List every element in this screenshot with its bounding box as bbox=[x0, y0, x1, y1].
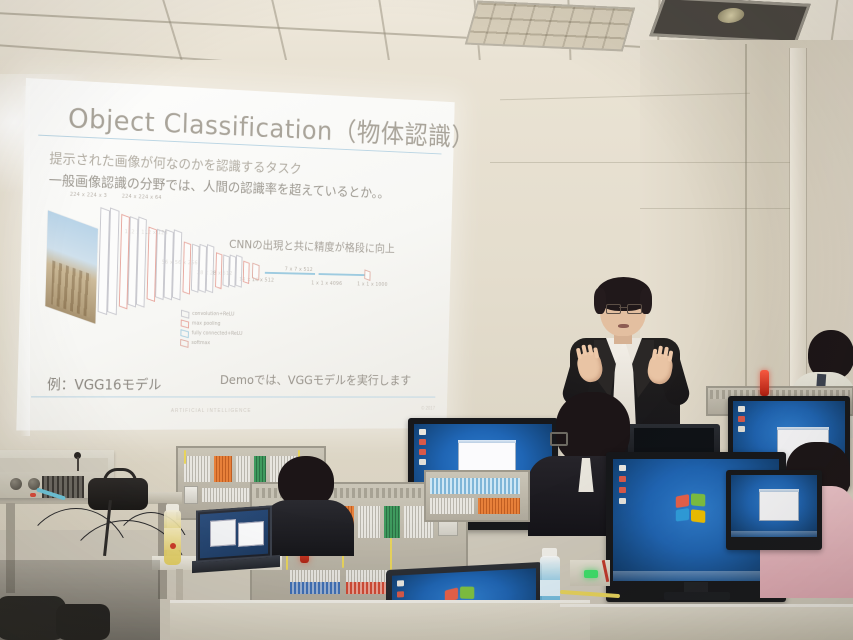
vgg-input-image bbox=[45, 210, 98, 323]
legend-swatch-pool bbox=[181, 319, 190, 328]
front-right-table bbox=[560, 604, 853, 640]
control-panel-right-mid bbox=[424, 470, 530, 522]
windows-logo-quad-red bbox=[676, 494, 689, 508]
windows-logo-quad-yellow bbox=[691, 509, 705, 523]
legend-swatch-fc bbox=[180, 329, 189, 338]
student-center-glasses bbox=[550, 432, 568, 446]
tea-bottle-logo bbox=[170, 543, 176, 549]
instrument-knob[interactable] bbox=[10, 478, 22, 490]
foreground-shadow bbox=[0, 560, 160, 640]
wall-seam bbox=[640, 208, 800, 209]
legend-swatch-softmax bbox=[180, 339, 189, 348]
dim-label-1: 224 x 224 x 64 bbox=[122, 194, 162, 201]
legend-label-fc: fully connected+ReLU bbox=[192, 330, 243, 336]
vgg16-diagram: 224 x 224 x 3 224 x 224 x 64 112 x 112 x… bbox=[36, 191, 425, 377]
legend-label-pool: max pooling bbox=[192, 321, 221, 327]
presenter-glasses-left-lens bbox=[606, 304, 621, 314]
black-bag bbox=[88, 478, 148, 510]
front-right-table-edge bbox=[560, 604, 853, 607]
windows-logo-quad-green bbox=[691, 493, 705, 506]
dim-label-8: 1 x 1 x 1000 bbox=[357, 282, 388, 288]
presenter-glasses-right-lens bbox=[627, 304, 642, 314]
slide-footer-left: ARTIFICIAL INTELLIGENCE bbox=[171, 408, 252, 414]
green-led-indicator bbox=[584, 570, 598, 578]
monitor-front-center bbox=[726, 470, 822, 550]
student-left-body bbox=[262, 500, 354, 556]
presenter-hair-side-left bbox=[594, 288, 606, 314]
slide-footer-right: © 2017 bbox=[421, 406, 435, 412]
slide-surface: Object Classification（物体認識） 提示された画像が何なのか… bbox=[16, 78, 454, 430]
projector-beam-edge bbox=[20, 86, 30, 436]
left-laptop-window-2[interactable] bbox=[238, 521, 264, 547]
instrument-led bbox=[30, 493, 36, 497]
microphone-stem bbox=[77, 457, 79, 471]
slide-example-label: 例：VGG16モデル bbox=[47, 374, 162, 394]
legend-label-softmax: softmax bbox=[191, 340, 210, 346]
open-window[interactable] bbox=[759, 489, 799, 521]
classroom-photo-scene: Object Classification（物体認識） 提示された画像が何なのか… bbox=[0, 0, 853, 640]
presenter-mouth bbox=[618, 324, 629, 328]
left-laptop-window-1[interactable] bbox=[210, 519, 236, 547]
ceiling-light-fixture bbox=[465, 1, 636, 52]
water-bottle-label bbox=[540, 580, 560, 596]
presenter-glasses-bridge bbox=[619, 307, 628, 308]
lab-instrument-faceplate bbox=[0, 458, 108, 472]
legend-swatch-conv bbox=[181, 310, 190, 319]
windows-logo-quad-green bbox=[460, 587, 474, 600]
dim-label-0: 224 x 224 x 3 bbox=[70, 192, 107, 199]
legend-label-conv: convolution+ReLU bbox=[192, 311, 234, 317]
monitor-front-center-screen[interactable] bbox=[731, 475, 817, 537]
front-table-edge bbox=[170, 600, 590, 603]
dim-label-7: 1 x 1 x 4096 bbox=[311, 281, 342, 287]
projected-slide: Object Classification（物体認識） 提示された画像が何なのか… bbox=[16, 78, 455, 438]
slide-rule-bottom bbox=[31, 396, 435, 397]
red-indicator-lamp-right bbox=[760, 370, 769, 396]
slide-demo-note: Demoでは、VGGモデルを実行します bbox=[220, 369, 412, 388]
front-table bbox=[170, 600, 590, 640]
windows-logo-quad-blue bbox=[676, 508, 689, 521]
